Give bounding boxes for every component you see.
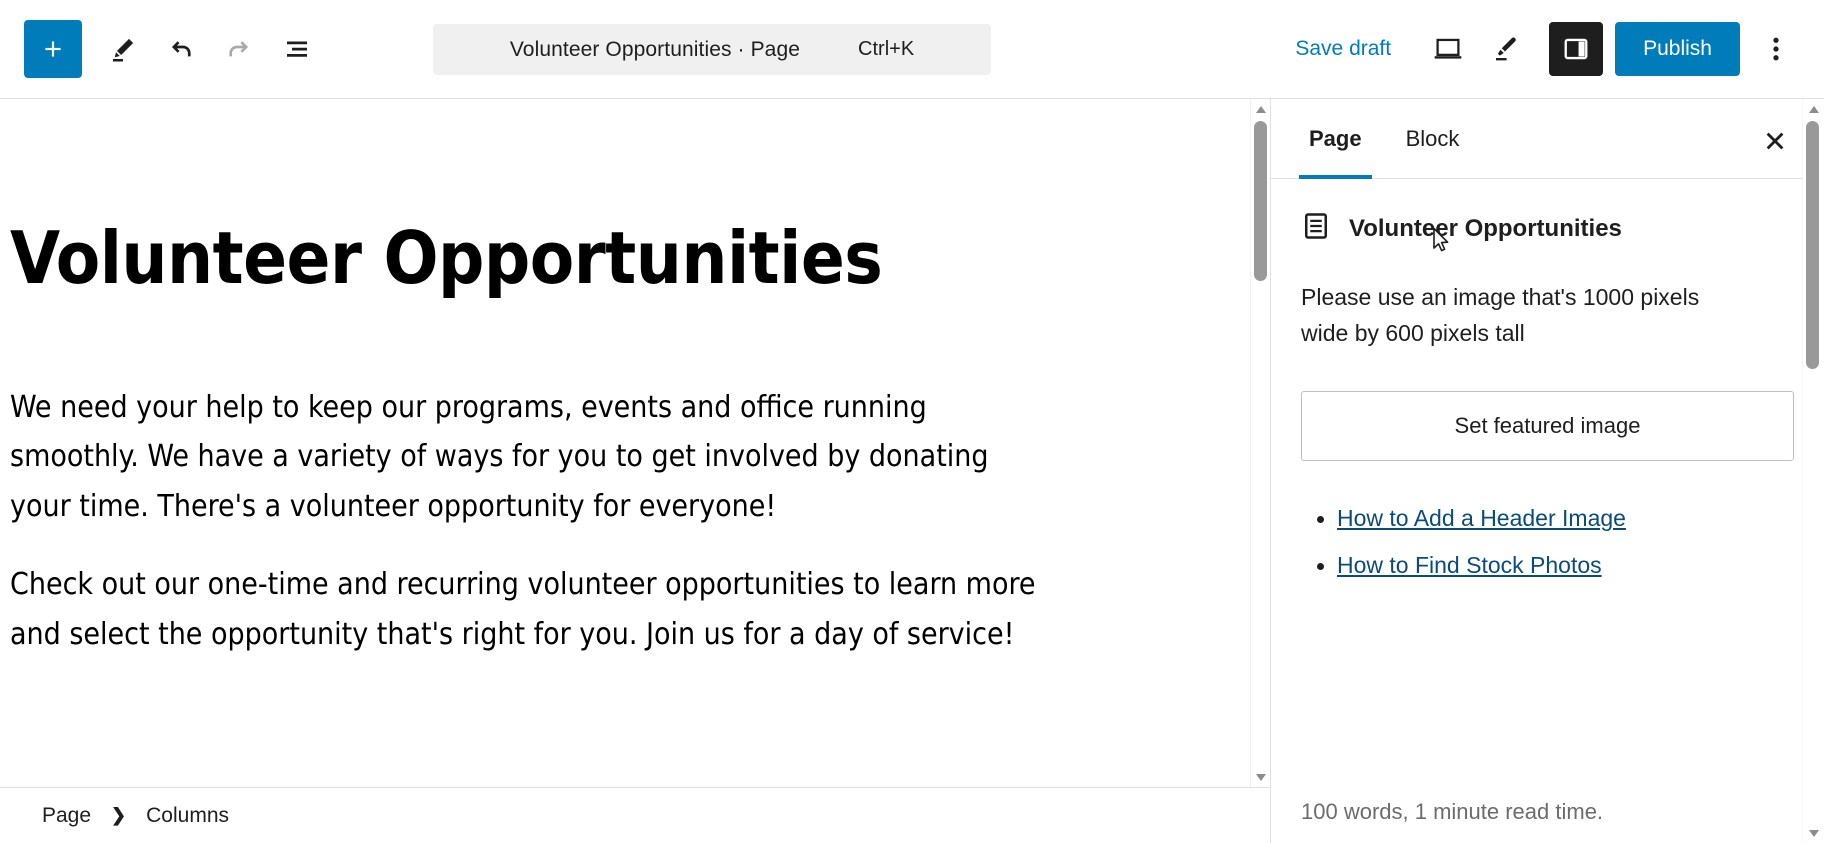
breadcrumb: Page ❯ Columns	[0, 787, 1270, 843]
list-item: How to Find Stock Photos	[1337, 552, 1794, 579]
post-title-block[interactable]: Volunteer Opportunities	[10, 221, 1180, 297]
tab-page[interactable]: Page	[1287, 99, 1384, 178]
tab-block[interactable]: Block	[1384, 99, 1482, 178]
editor-top-toolbar: Volunteer Opportunities · Page Ctrl+K Sa…	[0, 0, 1824, 99]
breadcrumb-item-page[interactable]: Page	[40, 800, 93, 832]
editor-column: Volunteer Opportunities We need your hel…	[0, 99, 1270, 843]
add-block-button[interactable]	[24, 20, 82, 78]
breadcrumb-separator-icon: ❯	[111, 805, 126, 826]
scroll-up-arrow-icon[interactable]	[1251, 101, 1270, 117]
close-icon[interactable]	[1748, 114, 1802, 168]
document-title-bar-wrapper: Volunteer Opportunities · Page Ctrl+K	[433, 24, 991, 75]
link-how-to-add-header-image[interactable]: How to Add a Header Image	[1337, 505, 1626, 531]
editor-canvas[interactable]: Volunteer Opportunities We need your hel…	[0, 99, 1270, 787]
link-how-to-find-stock-photos[interactable]: How to Find Stock Photos	[1337, 552, 1602, 578]
preview-laptop-icon[interactable]	[1419, 20, 1477, 78]
featured-panel-title: Volunteer Opportunities	[1349, 215, 1622, 243]
editor-scrollbar[interactable]	[1250, 99, 1270, 787]
save-draft-button[interactable]: Save draft	[1281, 29, 1405, 69]
featured-image-description: Please use an image that's 1000 pixels w…	[1301, 280, 1701, 351]
toolbar-right-group: Save draft Publis	[1281, 20, 1802, 78]
sidebar-scrollbar-thumb[interactable]	[1806, 121, 1819, 369]
editor-body: Volunteer Opportunities We need your hel…	[0, 99, 1824, 843]
paragraph-block-1[interactable]: We need your help to keep our programs, …	[10, 383, 1040, 532]
sidebar-scrollbar[interactable]	[1802, 99, 1824, 843]
page-document-icon	[1301, 211, 1331, 246]
sidebar-scroll-down-arrow-icon[interactable]	[1803, 825, 1824, 841]
undo-icon[interactable]	[152, 20, 210, 78]
list-item: How to Add a Header Image	[1337, 505, 1794, 532]
settings-sidebar-toggle-icon[interactable]	[1549, 22, 1603, 76]
toolbar-left-group	[24, 20, 326, 78]
paragraph-block-2[interactable]: Check out our one-time and recurring vol…	[10, 560, 1040, 660]
sidebar-tab-list: Page Block	[1271, 99, 1824, 179]
styles-brush-icon[interactable]	[1477, 20, 1535, 78]
post-content: Volunteer Opportunities We need your hel…	[0, 99, 1180, 660]
tools-pencil-icon[interactable]	[94, 20, 152, 78]
document-title-text: Volunteer Opportunities · Page	[510, 38, 800, 62]
sidebar-scroll-up-arrow-icon[interactable]	[1803, 101, 1824, 117]
publish-button[interactable]: Publish	[1615, 22, 1740, 76]
wordpress-block-editor: Volunteer Opportunities · Page Ctrl+K Sa…	[0, 0, 1824, 843]
editor-scrollbar-thumb[interactable]	[1254, 121, 1267, 281]
set-featured-image-button[interactable]: Set featured image	[1301, 391, 1794, 461]
help-links-list: How to Add a Header Image How to Find St…	[1301, 505, 1794, 579]
word-count-status: 100 words, 1 minute read time.	[1301, 799, 1603, 825]
settings-sidebar: Page Block	[1270, 99, 1824, 843]
scroll-down-arrow-icon[interactable]	[1251, 769, 1270, 785]
breadcrumb-item-columns[interactable]: Columns	[144, 800, 231, 832]
command-shortcut-label: Ctrl+K	[858, 38, 914, 61]
featured-image-panel-header: Volunteer Opportunities	[1301, 211, 1794, 246]
redo-icon[interactable]	[210, 20, 268, 78]
sidebar-panel-body: Volunteer Opportunities Please use an im…	[1271, 179, 1824, 843]
document-title-bar[interactable]: Volunteer Opportunities · Page Ctrl+K	[433, 24, 991, 75]
options-kebab-icon[interactable]	[1750, 20, 1802, 78]
document-overview-icon[interactable]	[268, 20, 326, 78]
